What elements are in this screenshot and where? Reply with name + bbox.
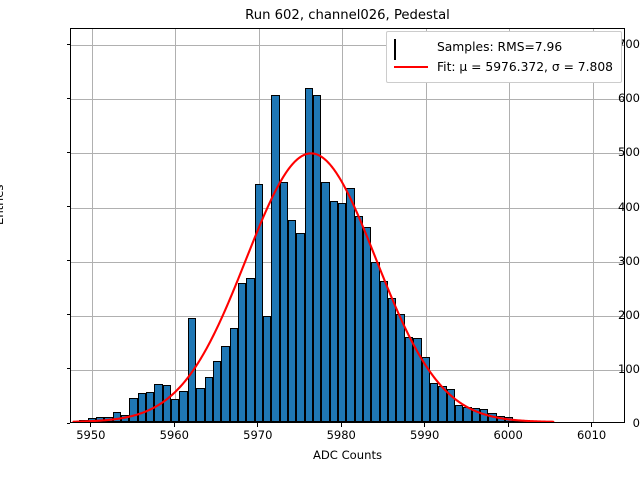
y-tick-label-100: 100: [579, 363, 640, 375]
gaussian-fit-curve: [71, 29, 624, 422]
x-tick-label-6010: 6010: [552, 429, 632, 441]
y-tick-label-500: 500: [579, 146, 640, 158]
chart-legend: Samples: RMS=7.96 Fit: μ = 5976.372, σ =…: [386, 31, 622, 83]
x-tick-mark-5990: [424, 423, 425, 427]
x-tick-mark-5950: [90, 423, 91, 427]
fit-curve-path: [73, 153, 553, 421]
legend-item-samples: Samples: RMS=7.96: [394, 37, 613, 57]
y-tick-label-400: 400: [579, 201, 640, 213]
chart-title: Run 602, channel026, Pedestal: [70, 8, 625, 24]
x-tick-label-6000: 6000: [468, 429, 548, 441]
y-tick-mark-200: [67, 314, 71, 315]
y-axis-label: Entries: [0, 185, 6, 225]
y-tick-label-300: 300: [579, 255, 640, 267]
x-tick-label-5990: 5990: [385, 429, 465, 441]
plot-area: Samples: RMS=7.96 Fit: μ = 5976.372, σ =…: [70, 28, 625, 423]
y-tick-mark-600: [67, 98, 71, 99]
chart-figure: Run 602, channel026, Pedestal Samples: R…: [0, 0, 640, 480]
y-tick-mark-0: [67, 423, 71, 424]
x-tick-label-5980: 5980: [301, 429, 381, 441]
legend-line-swatch-icon: [394, 60, 428, 74]
x-tick-mark-6010: [591, 423, 592, 427]
x-tick-label-5950: 5950: [51, 429, 131, 441]
x-tick-mark-5980: [341, 423, 342, 427]
legend-item-fit: Fit: μ = 5976.372, σ = 7.808: [394, 57, 613, 77]
x-axis-label: ADC Counts: [70, 448, 625, 462]
y-tick-mark-100: [67, 368, 71, 369]
legend-label-samples: Samples: RMS=7.96: [437, 40, 562, 54]
y-tick-mark-300: [67, 260, 71, 261]
legend-patch-swatch-icon: [394, 40, 428, 54]
x-tick-label-5960: 5960: [134, 429, 214, 441]
x-tick-mark-6000: [508, 423, 509, 427]
y-tick-label-200: 200: [579, 309, 640, 321]
y-tick-label-600: 600: [579, 92, 640, 104]
y-tick-mark-700: [67, 44, 71, 45]
x-tick-mark-5970: [257, 423, 258, 427]
x-tick-mark-5960: [174, 423, 175, 427]
x-tick-label-5970: 5970: [218, 429, 298, 441]
y-tick-mark-500: [67, 152, 71, 153]
y-tick-mark-400: [67, 206, 71, 207]
legend-label-fit: Fit: μ = 5976.372, σ = 7.808: [437, 60, 613, 74]
